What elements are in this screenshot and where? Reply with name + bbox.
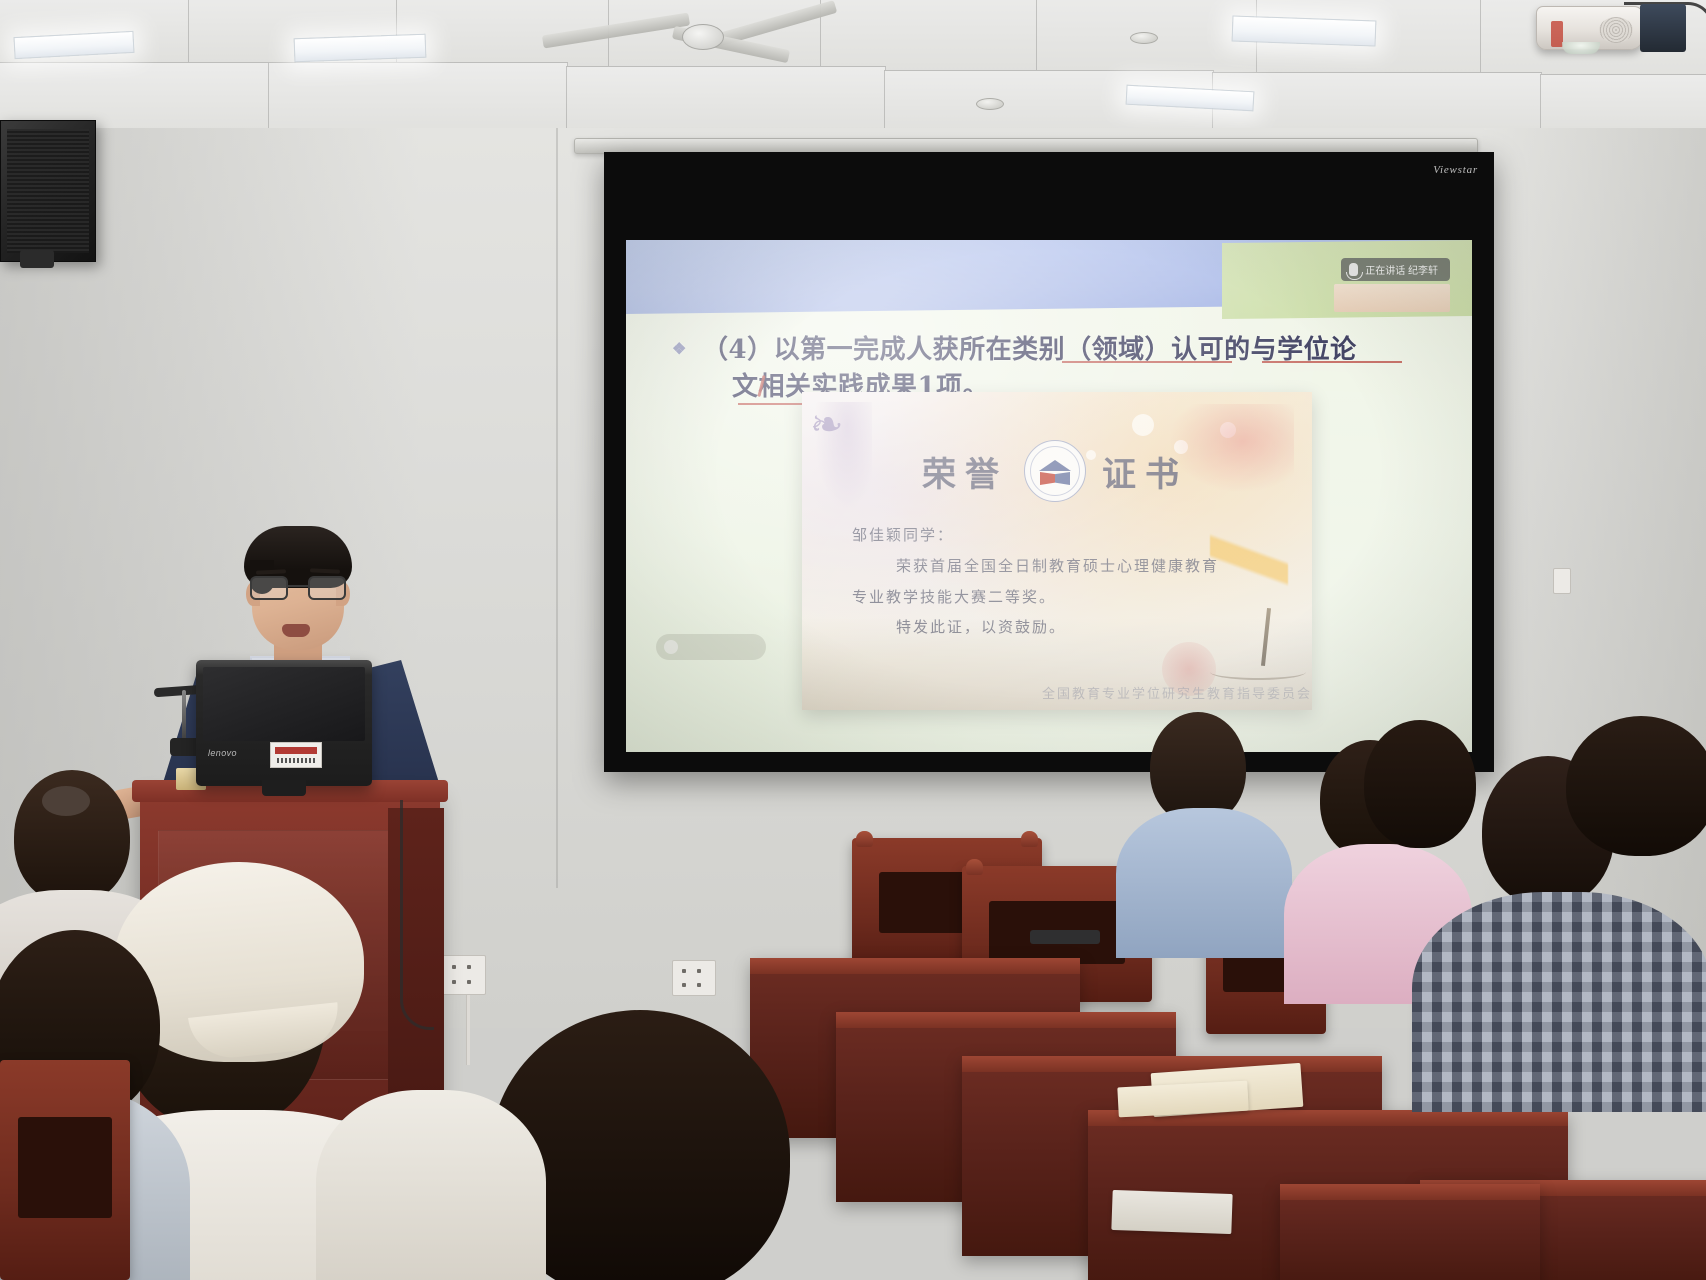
- certificate-title-right: 证书: [1102, 447, 1188, 496]
- phone-on-desk[interactable]: [1030, 930, 1100, 944]
- wall-switch[interactable]: [1553, 568, 1571, 594]
- audience-shoulders: [316, 1090, 546, 1280]
- paper-sheet[interactable]: [1111, 1190, 1232, 1234]
- chair-knob: [966, 859, 983, 875]
- lens-right: [308, 576, 346, 600]
- projector-screen: Viewstar 正在讲话 纪李轩 ❖ （4）以第一完成人获所在类别（领域）认可…: [604, 152, 1494, 772]
- red-underline: [1062, 361, 1232, 363]
- chair-knob: [856, 831, 873, 847]
- certificate-corner-ornament: ❧: [810, 402, 872, 522]
- fan-hub: [682, 24, 724, 50]
- audience-shoulders: [1116, 808, 1292, 958]
- ceiling-projector: [1528, 2, 1678, 58]
- audience-member: [1116, 712, 1296, 942]
- red-underline: [1262, 361, 1402, 363]
- ceiling: [0, 0, 1706, 130]
- audience-plaid-shirt: [1412, 892, 1706, 1112]
- eyeglasses-icon: [250, 576, 346, 600]
- desk-surface: [836, 1012, 1176, 1028]
- audience-member: [316, 1090, 536, 1280]
- speaker-grille: [7, 129, 89, 253]
- wall-seam: [556, 128, 558, 888]
- power-cable: [400, 800, 434, 1030]
- honor-certificate-image: ❧ 荣誉 证书 邹佳颖同学： 荣获首届全国全日制教育硕士心理健康教育 专业教学技…: [802, 392, 1312, 710]
- wall-speaker: [0, 120, 96, 262]
- open-book-icon: [1040, 472, 1070, 485]
- screen-brand-label: Viewstar: [1433, 164, 1478, 176]
- lens-left: [250, 576, 288, 600]
- projector-vent: [1599, 17, 1633, 43]
- ceiling-light-fixture: [1232, 15, 1377, 46]
- graduation-cap-emblem-icon: [1024, 440, 1086, 502]
- ceiling-light-fixture: [294, 34, 427, 63]
- projector-mount-panel: [1640, 4, 1686, 52]
- microphone-stem: [182, 690, 186, 744]
- monitor-display[interactable]: [203, 667, 365, 741]
- desk-surface: [962, 1056, 1382, 1072]
- ceiling-tile: [566, 66, 886, 130]
- audience-hair: [1566, 716, 1706, 856]
- ceiling-tile: [1540, 74, 1706, 130]
- classroom-chair[interactable]: [0, 1060, 130, 1280]
- monitor-stand: [262, 780, 306, 796]
- slide-line-1: （4）以第一完成人获所在类别（领域）认可的与学位论: [702, 335, 1357, 365]
- monitor-asset-sticker: [270, 742, 322, 768]
- video-conference-control-pill[interactable]: [656, 634, 766, 660]
- glasses-bridge: [288, 585, 308, 587]
- ceiling-tile: [1212, 72, 1542, 130]
- projector-lens-icon: [1562, 42, 1600, 54]
- lecture-hall-photo: Viewstar 正在讲话 纪李轩 ❖ （4）以第一完成人获所在类别（领域）认可…: [0, 0, 1706, 1280]
- ceiling-fan: [576, 0, 806, 60]
- wall-outlet-panel[interactable]: [442, 955, 486, 995]
- wall-outlet-panel[interactable]: [672, 960, 716, 996]
- certificate-issuer: 全国教育专业学位研究生教育指导委员会: [1042, 683, 1298, 702]
- monitor-brand-label: lenovo: [208, 748, 237, 758]
- smoke-detector-icon: [1130, 32, 1158, 44]
- desk-surface: [750, 958, 1080, 974]
- desk-surface: [1280, 1184, 1540, 1200]
- audience-member: [1556, 716, 1706, 896]
- mortarboard-icon: [1039, 460, 1071, 471]
- smoke-detector-icon: [976, 98, 1004, 110]
- chair-backrest-gap: [18, 1117, 112, 1218]
- classroom-desk: [1280, 1184, 1540, 1280]
- video-conference-speaking-indicator: 正在讲话 纪李轩: [1341, 258, 1450, 281]
- chair-knob: [1021, 831, 1038, 847]
- lectern-monitor[interactable]: lenovo: [196, 660, 372, 786]
- ceiling-tile: [268, 62, 568, 130]
- certificate-title-left: 荣誉: [922, 447, 1008, 496]
- video-conference-thumbnail: [1334, 284, 1450, 312]
- speaker-mount-bracket: [20, 250, 54, 268]
- video-conference-speaker-name: 正在讲话 纪李轩: [1365, 262, 1438, 277]
- microphone-icon: [1349, 263, 1358, 276]
- presenter-mouth: [282, 624, 310, 637]
- slide-surface: 正在讲话 纪李轩 ❖ （4）以第一完成人获所在类别（领域）认可的与学位论 文相关…: [626, 240, 1472, 752]
- bokeh-dot: [1132, 414, 1154, 436]
- bullet-marker-icon: ❖: [672, 341, 685, 354]
- ceiling-tile: [820, 0, 1038, 74]
- hair-tie: [42, 786, 90, 816]
